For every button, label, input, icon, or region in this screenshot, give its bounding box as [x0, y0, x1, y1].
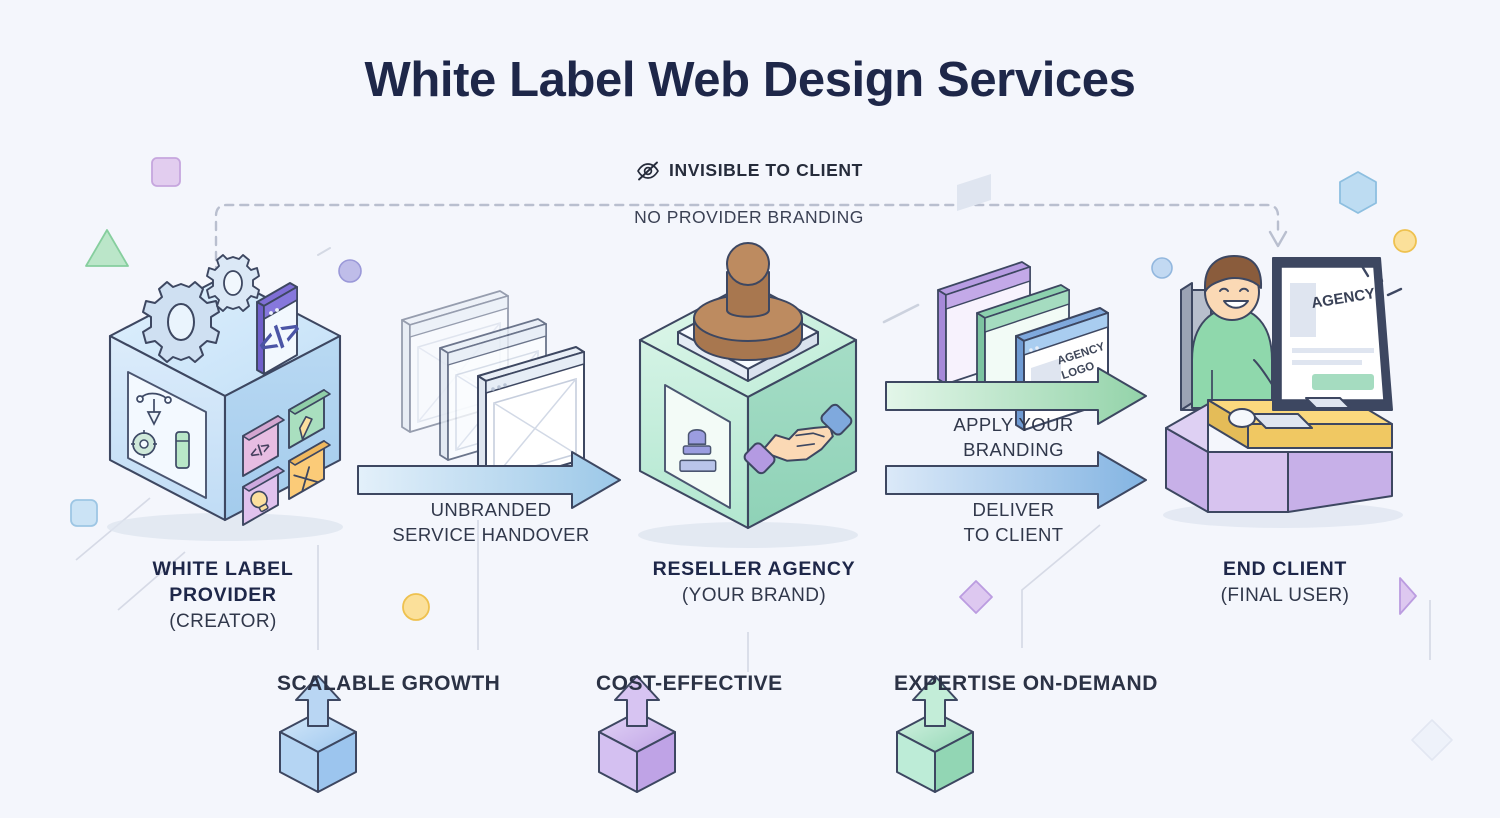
infographic-canvas: White Label Web Design Services	[0, 0, 1500, 818]
rubber-stamp-icon	[694, 243, 802, 360]
arrow-caption-deliver: DELIVER TO CLIENT	[896, 497, 1131, 547]
apply-label-line2: BRANDING	[896, 437, 1131, 462]
arrow-caption-handover: UNBRANDED SERVICE HANDOVER	[351, 497, 631, 547]
arrow-caption-apply-branding: APPLY YOUR BRANDING	[896, 412, 1131, 462]
client-subtitle: (FINAL USER)	[1125, 582, 1445, 610]
deliver-label-line2: TO CLIENT	[896, 522, 1131, 547]
provider-title-line2: PROVIDER	[63, 582, 383, 608]
apply-label-line1: APPLY YOUR	[896, 412, 1131, 437]
white-label-provider-illustration: </>	[107, 255, 343, 541]
benefit-scalable-growth: SCALABLE GROWTH	[277, 672, 500, 696]
monitor-icon: AGENCY	[1273, 258, 1401, 410]
reseller-subtitle: (YOUR BRAND)	[594, 582, 914, 610]
provider-subtitle: (CREATOR)	[63, 608, 383, 636]
reseller-agency-illustration	[638, 243, 859, 548]
unbranded-screens	[402, 291, 584, 488]
benefit-label-1: COST-EFFECTIVE	[596, 672, 783, 696]
end-client-illustration: AGENCY	[1163, 256, 1403, 528]
benefit-label-0: SCALABLE GROWTH	[277, 672, 500, 696]
handover-label-line2: SERVICE HANDOVER	[351, 522, 631, 547]
benefit-label-2: EXPERTISE ON-DEMAND	[894, 672, 1158, 696]
pencil-icon	[176, 432, 189, 468]
reseller-title: RESELLER AGENCY	[594, 556, 914, 582]
handover-label-line1: UNBRANDED	[351, 497, 631, 522]
caption-end-client: END CLIENT (FINAL USER)	[1125, 556, 1445, 610]
provider-title-line1: WHITE LABEL	[63, 556, 383, 582]
benefit-cost-effective: COST-EFFECTIVE	[596, 672, 783, 696]
caption-white-label-provider: WHITE LABEL PROVIDER (CREATOR)	[63, 556, 383, 636]
mouse-icon	[1229, 409, 1255, 427]
client-title: END CLIENT	[1125, 556, 1445, 582]
benefit-expertise-on-demand: EXPERTISE ON-DEMAND	[894, 672, 1158, 696]
deliver-label-line1: DELIVER	[896, 497, 1131, 522]
caption-reseller-agency: RESELLER AGENCY (YOUR BRAND)	[594, 556, 914, 610]
